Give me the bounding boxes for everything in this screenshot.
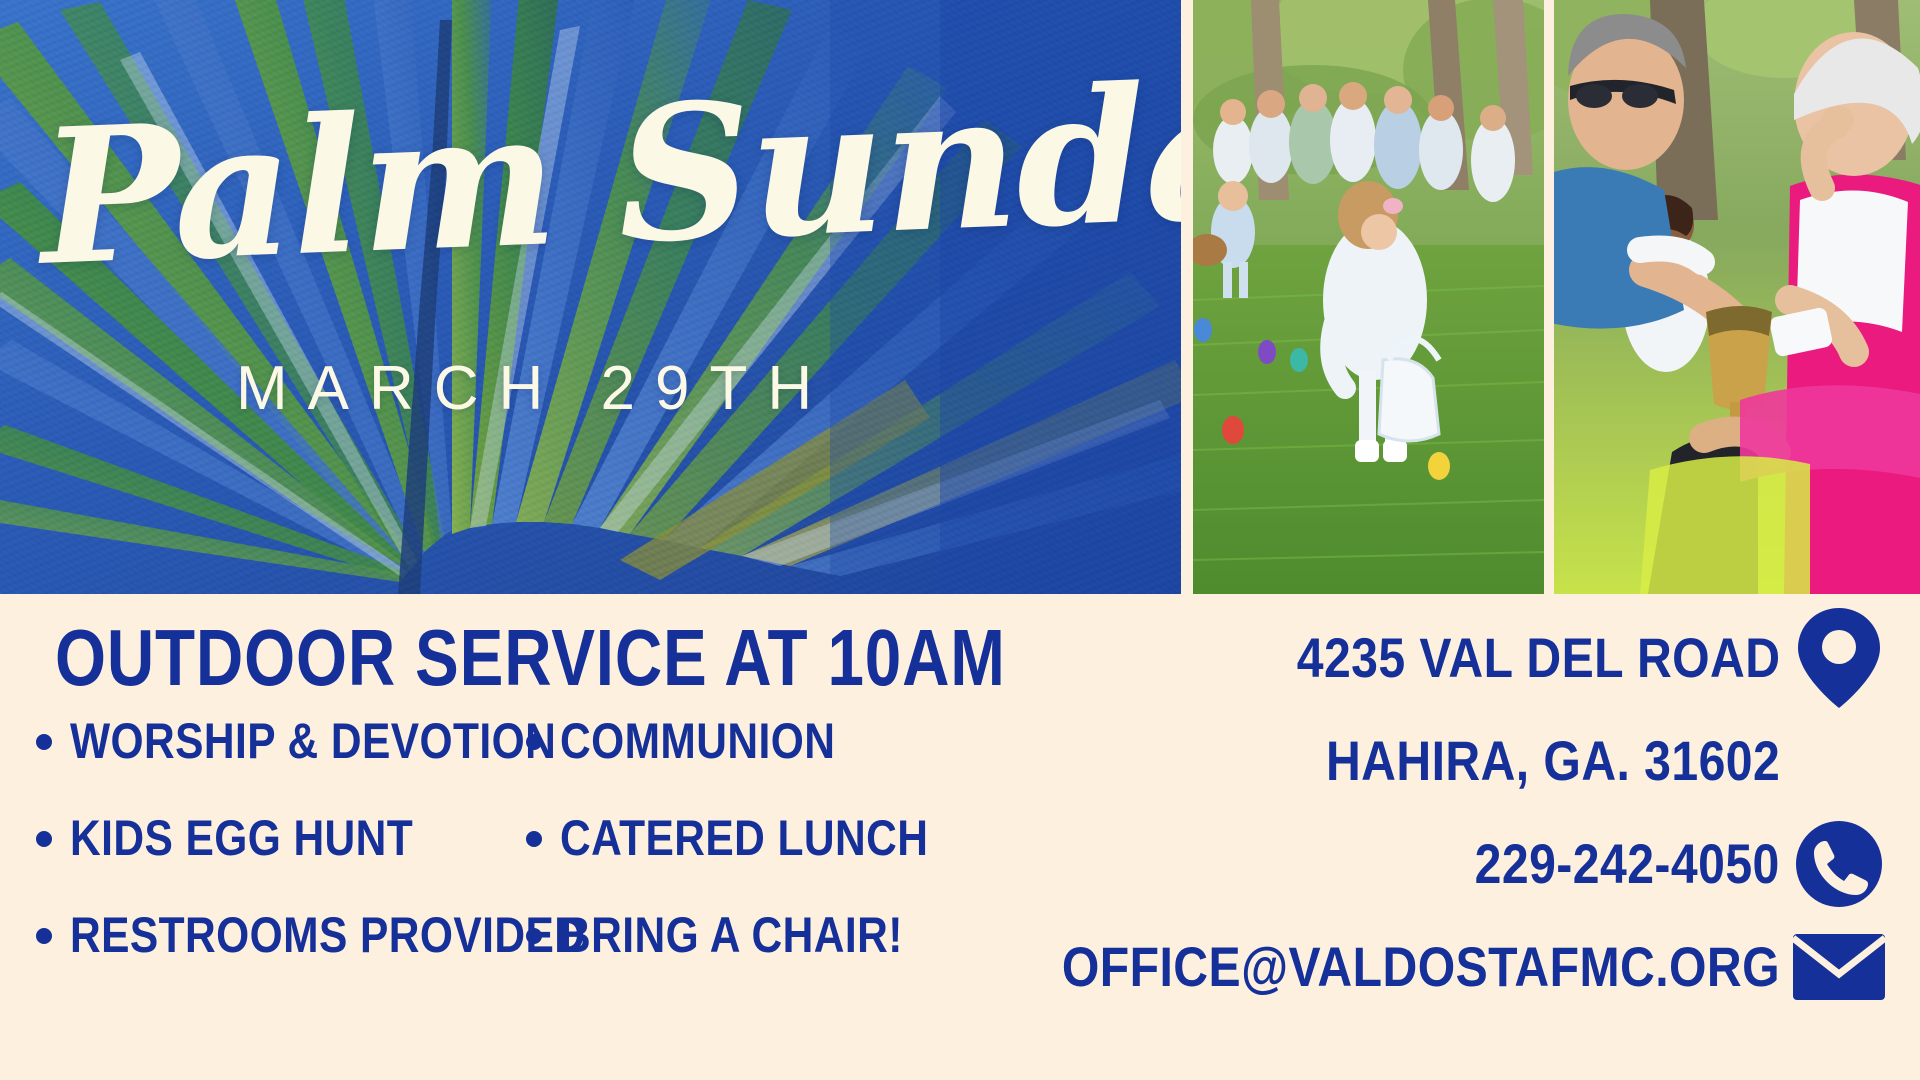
contact-block: 4235 VAL DEL ROAD HAHIRA, GA. 31602 229-… (1018, 606, 1898, 1018)
map-pin-icon[interactable] (1780, 606, 1898, 710)
list-item: WORSHIP & DEVOTION (36, 716, 526, 766)
list-item: COMMUNION (526, 716, 966, 766)
bullet-row: RESTROOMS PROVIDED BRING A CHAIR! (36, 910, 976, 1007)
address-street-text: 4235 VAL DEL ROAD (1296, 630, 1780, 686)
bullet-dot-icon (526, 831, 542, 847)
service-headline: OUTDOOR SERVICE AT 10AM (55, 618, 1006, 698)
phone-icon[interactable] (1780, 819, 1898, 909)
bullet-label: COMMUNION (560, 716, 835, 766)
list-item: RESTROOMS PROVIDED (36, 910, 526, 960)
phone-number-text: 229-242-4050 (1475, 836, 1780, 892)
envelope-icon[interactable] (1780, 930, 1898, 1004)
bullet-label: CATERED LUNCH (560, 813, 928, 863)
hero-title: Palm Sunday (37, 74, 973, 286)
bullet-label: WORSHIP & DEVOTION (70, 716, 556, 766)
details-section: OUTDOOR SERVICE AT 10AM WORSHIP & DEVOTI… (0, 594, 1920, 1080)
bullet-dot-icon (36, 734, 52, 750)
top-image-band: Palm Sunday MARCH 29TH (0, 0, 1920, 594)
bullet-list: WORSHIP & DEVOTION COMMUNION KIDS EGG HU… (36, 716, 976, 1007)
contact-row-address-city: HAHIRA, GA. 31602 (1018, 709, 1898, 812)
bullet-row: WORSHIP & DEVOTION COMMUNION (36, 716, 976, 813)
list-item: BRING A CHAIR! (526, 910, 966, 960)
contact-row-phone: 229-242-4050 (1018, 812, 1898, 915)
list-item: CATERED LUNCH (526, 813, 966, 863)
easter-egg-hunt-photo (1193, 0, 1544, 594)
email-address-text: OFFICE@VALDOSTAFMC.ORG (1062, 939, 1780, 995)
palm-sunday-flyer: Palm Sunday MARCH 29TH (0, 0, 1920, 1080)
bullet-dot-icon (36, 928, 52, 944)
bullet-row: KIDS EGG HUNT CATERED LUNCH (36, 813, 976, 910)
bullet-label: RESTROOMS PROVIDED (70, 910, 585, 960)
hero-panel: Palm Sunday MARCH 29TH (0, 0, 1181, 594)
bullet-label: BRING A CHAIR! (560, 910, 903, 960)
bullet-label: KIDS EGG HUNT (70, 813, 413, 863)
list-item: KIDS EGG HUNT (36, 813, 526, 863)
address-city-text: HAHIRA, GA. 31602 (1326, 733, 1780, 789)
bullet-dot-icon (36, 831, 52, 847)
contact-row-email: OFFICE@VALDOSTAFMC.ORG (1018, 915, 1898, 1018)
communion-photo (1554, 0, 1920, 594)
contact-row-address-street: 4235 VAL DEL ROAD (1018, 606, 1898, 709)
hero-date: MARCH 29TH (236, 358, 832, 420)
